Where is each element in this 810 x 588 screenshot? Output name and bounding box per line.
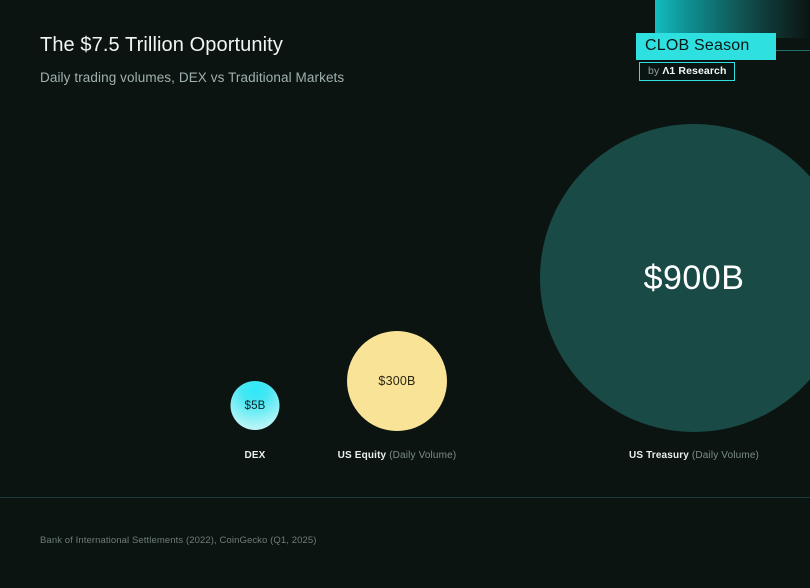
brand-badge: CLOB Season by Λ1 Research — [636, 33, 776, 81]
bubble-us-treasury: $900B — [540, 124, 810, 432]
bubble-label-dex: DEX — [244, 450, 265, 461]
badge-brand-label: Λ1 Research — [662, 65, 726, 77]
bubble-label-main-us-treasury: US Treasury — [629, 450, 689, 461]
bubble-label-qualifier-us-treasury: (Daily Volume) — [692, 450, 759, 461]
bubble-label-us-treasury: US Treasury (Daily Volume) — [629, 450, 759, 461]
badge-attribution: by Λ1 Research — [639, 62, 735, 81]
page-subtitle: Daily trading volumes, DEX vs Traditiona… — [40, 70, 344, 85]
bubble-value-us-equity: $300B — [378, 374, 415, 388]
bubble-group-us-equity: $300B US Equity (Daily Volume) — [277, 110, 517, 470]
bubble-label-qualifier-us-equity: (Daily Volume) — [389, 450, 456, 461]
badge-by-label: by — [648, 65, 659, 77]
page-title: The $7.5 Trillion Oportunity — [40, 34, 283, 57]
footer-divider — [0, 497, 810, 498]
bubble-label-us-equity: US Equity (Daily Volume) — [338, 450, 457, 461]
slide-canvas: CLOB Season by Λ1 Research The $7.5 Tril… — [0, 0, 810, 588]
bubble-label-main-dex: DEX — [244, 450, 265, 461]
bubble-us-equity: $300B — [347, 331, 447, 431]
source-citation: Bank of International Settlements (2022)… — [40, 535, 317, 546]
bubble-value-dex: $5B — [244, 400, 265, 412]
bubble-label-main-us-equity: US Equity — [338, 450, 387, 461]
bubble-dex: $5B — [231, 381, 280, 430]
badge-main-label: CLOB Season — [636, 33, 776, 60]
bubble-chart: $5B DEX $300B US Equity (Daily Volume) $… — [0, 110, 810, 480]
bubble-value-us-treasury: $900B — [644, 259, 745, 298]
bubble-group-us-treasury: $900B US Treasury (Daily Volume) — [529, 110, 810, 470]
